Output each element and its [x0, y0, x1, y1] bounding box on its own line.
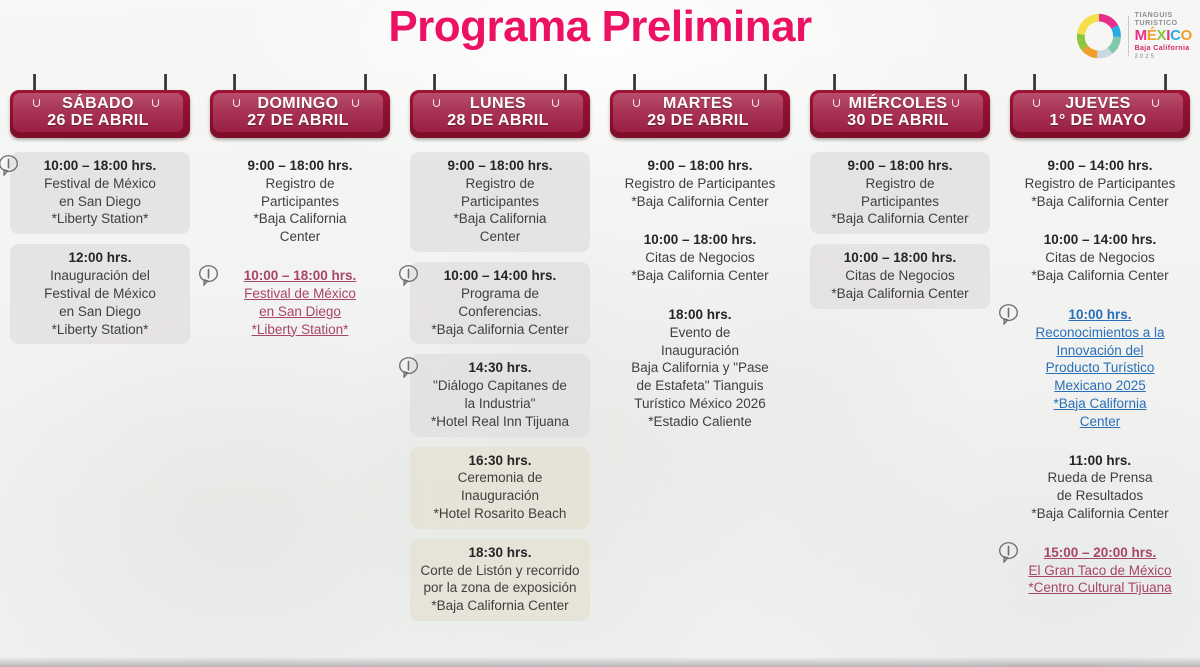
entry-time: 9:00 – 18:00 hrs.	[416, 157, 584, 175]
entry-description-line: *Baja California	[1016, 395, 1184, 413]
schedule-entry: 11:00 hrs.Rueda de Prensade Resultados*B…	[1010, 447, 1190, 529]
day-entries: 9:00 – 18:00 hrs.Registro deParticipante…	[800, 144, 1000, 309]
info-bubble-icon[interactable]	[998, 541, 1019, 564]
entry-description-line: *Baja California	[216, 210, 384, 228]
entry-description-line: Innovación del	[1016, 342, 1184, 360]
entry-description-line: de Estafeta" Tianguis	[616, 377, 784, 395]
entry-description-line: Registro de	[416, 175, 584, 193]
entry-description-line: Inauguración del	[16, 267, 184, 285]
entry-time: 10:00 – 18:00 hrs.	[616, 231, 784, 249]
day-entries: 10:00 – 18:00 hrs.Festival de Méxicoen S…	[0, 144, 200, 344]
day-name: LUNES	[470, 96, 526, 112]
entry-description-line: Citas de Negocios	[1016, 249, 1184, 267]
schedule-entry: 9:00 – 18:00 hrs.Registro deParticipante…	[410, 152, 590, 252]
day-sign[interactable]: MIÉRCOLES30 DE ABRIL	[810, 90, 990, 138]
entry-description-line: en San Diego	[216, 303, 384, 321]
entry-description: Registro de Participantes*Baja Californi…	[1016, 175, 1184, 211]
entry-description-line: Programa de	[416, 285, 584, 303]
entry-description-line: Ceremonia de	[416, 469, 584, 487]
schedule-entry: 16:30 hrs.Ceremonia deInauguración*Hotel…	[410, 447, 590, 529]
day-header: JUEVES1° DE MAYO	[1000, 74, 1200, 144]
entry-time: 12:00 hrs.	[16, 249, 184, 267]
day-name: DOMINGO	[257, 96, 338, 112]
day-entries: 9:00 – 18:00 hrs.Registro de Participant…	[600, 144, 800, 437]
sign-rivet-right	[952, 99, 959, 107]
entry-description-line: *Baja California Center	[1016, 267, 1184, 285]
logo-line-1: TIANGUIS	[1135, 12, 1192, 19]
sign-rivet-right	[752, 99, 759, 107]
schedule-entry: 10:00 – 18:00 hrs.Citas de Negocios*Baja…	[810, 244, 990, 308]
entry-description-line: Inauguración	[616, 342, 784, 360]
entry-time: 16:30 hrs.	[416, 452, 584, 470]
logo-subtitle: Baja California	[1135, 45, 1192, 52]
day-name: SÁBADO	[62, 96, 134, 112]
sign-rivet-left	[1033, 99, 1040, 107]
page-title: Programa Preliminar	[0, 2, 1200, 52]
day-sign[interactable]: MARTES29 DE ABRIL	[610, 90, 790, 138]
entry-description-line: *Centro Cultural Tijuana	[1016, 579, 1184, 597]
entry-description-line: Turístico México 2026	[616, 395, 784, 413]
day-entries: 9:00 – 18:00 hrs.Registro deParticipante…	[200, 144, 400, 344]
entry-time: 9:00 – 18:00 hrs.	[216, 157, 384, 175]
schedule-entry: 10:00 – 14:00 hrs.Citas de Negocios*Baja…	[1010, 226, 1190, 290]
day-sign-inner: MARTES29 DE ABRIL	[613, 93, 783, 132]
logo-text: TIANGUIS TURISTICO MÉXICO Baja Californi…	[1135, 12, 1192, 60]
entry-time: 11:00 hrs.	[1016, 452, 1184, 470]
day-name: MIÉRCOLES	[849, 96, 948, 112]
day-column-martes: MARTES29 DE ABRIL9:00 – 18:00 hrs.Regist…	[600, 74, 800, 667]
day-entries: 9:00 – 18:00 hrs.Registro deParticipante…	[400, 144, 600, 621]
entry-description-line: de Resultados	[1016, 487, 1184, 505]
entry-description-line: *Hotel Rosarito Beach	[416, 505, 584, 523]
sign-rivet-left	[233, 99, 240, 107]
entry-description-line: Registro de	[216, 175, 384, 193]
sign-rivet-left	[33, 99, 40, 107]
day-sign[interactable]: SÁBADO26 DE ABRIL	[10, 90, 190, 138]
schedule-entry: 14:30 hrs."Diálogo Capitanes dela Indust…	[410, 354, 590, 436]
entry-description-line: *Baja California Center	[616, 267, 784, 285]
day-date: 1° DE MAYO	[1050, 113, 1147, 129]
schedule-entry[interactable]: 10:00 – 18:00 hrs.Festival de Méxicoen S…	[210, 262, 390, 344]
entry-description: Corte de Listón y recorridopor la zona d…	[416, 562, 584, 615]
entry-description: Registro deParticipantes*Baja California…	[816, 175, 984, 228]
entry-description: El Gran Taco de México*Centro Cultural T…	[1016, 562, 1184, 598]
entry-description-line: Producto Turístico	[1016, 359, 1184, 377]
schedule-entry: 10:00 – 18:00 hrs.Festival de Méxicoen S…	[10, 152, 190, 234]
entry-time: 9:00 – 18:00 hrs.	[816, 157, 984, 175]
sign-rivet-right	[352, 99, 359, 107]
day-column-sbado: SÁBADO26 DE ABRIL 10:00 – 18:00 hrs.Fest…	[0, 74, 200, 667]
entry-description-line: Festival de México	[216, 285, 384, 303]
entry-description: Rueda de Prensade Resultados*Baja Califo…	[1016, 469, 1184, 522]
entry-description-line: *Baja California Center	[1016, 505, 1184, 523]
logo-year: 2025	[1135, 54, 1192, 60]
schedule-entry[interactable]: 15:00 – 20:00 hrs.El Gran Taco de México…	[1010, 539, 1190, 603]
entry-description: Evento deInauguraciónBaja California y "…	[616, 324, 784, 431]
day-entries: 9:00 – 14:00 hrs.Registro de Participant…	[1000, 144, 1200, 603]
entry-description: Reconocimientos a laInnovación delProduc…	[1016, 324, 1184, 431]
entry-time: 15:00 – 20:00 hrs.	[1016, 544, 1184, 562]
entry-description: Festival de Méxicoen San Diego*Liberty S…	[216, 285, 384, 338]
entry-time: 10:00 hrs.	[1016, 306, 1184, 324]
entry-description-line: Evento de	[616, 324, 784, 342]
day-column-lunes: LUNES28 DE ABRIL9:00 – 18:00 hrs.Registr…	[400, 74, 600, 667]
schedule-entry: 10:00 – 18:00 hrs.Citas de Negocios*Baja…	[610, 226, 790, 290]
entry-description: Citas de Negocios*Baja California Center	[1016, 249, 1184, 285]
entry-description-line: *Liberty Station*	[16, 210, 184, 228]
day-header: LUNES28 DE ABRIL	[400, 74, 600, 144]
entry-description: Citas de Negocios*Baja California Center	[816, 267, 984, 303]
day-sign-inner: MIÉRCOLES30 DE ABRIL	[813, 93, 983, 132]
day-sign[interactable]: LUNES28 DE ABRIL	[410, 90, 590, 138]
sign-rivet-left	[833, 99, 840, 107]
day-name: JUEVES	[1065, 96, 1131, 112]
entry-description-line: *Estadio Caliente	[616, 413, 784, 431]
entry-description: "Diálogo Capitanes dela Industria"*Hotel…	[416, 377, 584, 430]
entry-description: Programa deConferencias.*Baja California…	[416, 285, 584, 338]
info-bubble-icon[interactable]	[398, 356, 419, 379]
entry-description-line: *Liberty Station*	[216, 321, 384, 339]
day-column-mircoles: MIÉRCOLES30 DE ABRIL9:00 – 18:00 hrs.Reg…	[800, 74, 1000, 667]
day-sign-inner: SÁBADO26 DE ABRIL	[13, 93, 183, 132]
schedule-entry: 18:00 hrs.Evento deInauguraciónBaja Cali…	[610, 301, 790, 437]
entry-description: Registro deParticipantes*Baja California…	[216, 175, 384, 246]
info-bubble-icon[interactable]	[198, 264, 219, 287]
entry-description-line: *Baja California Center	[416, 321, 584, 339]
day-sign-inner: JUEVES1° DE MAYO	[1013, 93, 1183, 132]
day-sign[interactable]: DOMINGO27 DE ABRIL	[210, 90, 390, 138]
entry-description-line: "Diálogo Capitanes de	[416, 377, 584, 395]
schedule-entry: 18:30 hrs.Corte de Listón y recorridopor…	[410, 539, 590, 621]
entry-description-line: *Liberty Station*	[16, 321, 184, 339]
day-sign-inner: DOMINGO27 DE ABRIL	[213, 93, 383, 132]
day-date: 27 DE ABRIL	[247, 113, 349, 129]
entry-time: 18:00 hrs.	[616, 306, 784, 324]
entry-description-line: Rueda de Prensa	[1016, 469, 1184, 487]
schedule-entry: 9:00 – 18:00 hrs.Registro deParticipante…	[210, 152, 390, 252]
entry-description-line: Corte de Listón y recorrido	[416, 562, 584, 580]
entry-description-line: Participantes	[816, 193, 984, 211]
program-page: Programa Preliminar TIANGUIS TURISTICO M…	[0, 0, 1200, 667]
entry-description-line: por la zona de exposición	[416, 579, 584, 597]
entry-time: 9:00 – 18:00 hrs.	[616, 157, 784, 175]
entry-description-line: Citas de Negocios	[616, 249, 784, 267]
entry-description-line: Inauguración	[416, 487, 584, 505]
sign-rivet-right	[552, 99, 559, 107]
sign-rivet-right	[1152, 99, 1159, 107]
entry-description-line: Center	[416, 228, 584, 246]
entry-description: Registro de Participantes*Baja Californi…	[616, 175, 784, 211]
day-column-jueves: JUEVES1° DE MAYO9:00 – 14:00 hrs.Registr…	[1000, 74, 1200, 667]
entry-description-line: Mexicano 2025	[1016, 377, 1184, 395]
day-name: MARTES	[663, 96, 733, 112]
schedule-entry[interactable]: 10:00 hrs.Reconocimientos a laInnovación…	[1010, 301, 1190, 437]
logo-divider	[1128, 16, 1129, 56]
color-ring-logo-icon	[1076, 13, 1122, 59]
entry-description-line: *Hotel Real Inn Tijuana	[416, 413, 584, 431]
day-column-domingo: DOMINGO27 DE ABRIL9:00 – 18:00 hrs.Regis…	[200, 74, 400, 667]
entry-description-line: la Industria"	[416, 395, 584, 413]
entry-description-line: Center	[1016, 413, 1184, 431]
schedule-entry: 9:00 – 18:00 hrs.Registro de Participant…	[610, 152, 790, 216]
entry-time: 9:00 – 14:00 hrs.	[1016, 157, 1184, 175]
entry-description-line: Reconocimientos a la	[1016, 324, 1184, 342]
schedule-entry: 10:00 – 14:00 hrs.Programa deConferencia…	[410, 262, 590, 344]
entry-time: 10:00 – 14:00 hrs.	[416, 267, 584, 285]
entry-description-line: Festival de México	[16, 175, 184, 193]
entry-time: 18:30 hrs.	[416, 544, 584, 562]
entry-description-line: Registro de Participantes	[616, 175, 784, 193]
entry-description-line: Registro de	[816, 175, 984, 193]
entry-description-line: *Baja California	[416, 210, 584, 228]
entry-description-line: Festival de México	[16, 285, 184, 303]
info-bubble-icon[interactable]	[998, 303, 1019, 326]
entry-description-line: Participantes	[216, 193, 384, 211]
entry-description-line: en San Diego	[16, 303, 184, 321]
entry-description-line: *Baja California Center	[1016, 193, 1184, 211]
day-header: MIÉRCOLES30 DE ABRIL	[800, 74, 1000, 144]
event-logo: TIANGUIS TURISTICO MÉXICO Baja Californi…	[1076, 7, 1192, 65]
day-header: DOMINGO27 DE ABRIL	[200, 74, 400, 144]
entry-description-line: Participantes	[416, 193, 584, 211]
entry-description-line: Center	[216, 228, 384, 246]
day-header: SÁBADO26 DE ABRIL	[0, 74, 200, 144]
day-date: 30 DE ABRIL	[847, 113, 949, 129]
day-header: MARTES29 DE ABRIL	[600, 74, 800, 144]
day-date: 26 DE ABRIL	[47, 113, 149, 129]
entry-description-line: *Baja California Center	[616, 193, 784, 211]
entry-time: 14:30 hrs.	[416, 359, 584, 377]
entry-description: Festival de Méxicoen San Diego*Liberty S…	[16, 175, 184, 228]
sign-rivet-left	[433, 99, 440, 107]
entry-description-line: en San Diego	[16, 193, 184, 211]
info-bubble-icon[interactable]	[0, 154, 19, 177]
sign-rivet-left	[633, 99, 640, 107]
entry-description-line: Registro de Participantes	[1016, 175, 1184, 193]
entry-description-line: *Baja California Center	[816, 285, 984, 303]
entry-description-line: Conferencias.	[416, 303, 584, 321]
logo-brand: MÉXICO	[1135, 28, 1192, 43]
day-sign[interactable]: JUEVES1° DE MAYO	[1010, 90, 1190, 138]
day-date: 28 DE ABRIL	[447, 113, 549, 129]
info-bubble-icon[interactable]	[398, 264, 419, 287]
entry-description-line: Baja California y "Pase	[616, 359, 784, 377]
entry-time: 10:00 – 18:00 hrs.	[216, 267, 384, 285]
entry-description: Citas de Negocios*Baja California Center	[616, 249, 784, 285]
schedule-entry: 9:00 – 14:00 hrs.Registro de Participant…	[1010, 152, 1190, 216]
entry-time: 10:00 – 14:00 hrs.	[1016, 231, 1184, 249]
entry-time: 10:00 – 18:00 hrs.	[16, 157, 184, 175]
entry-description-line: *Baja California Center	[816, 210, 984, 228]
schedule-entry: 9:00 – 18:00 hrs.Registro deParticipante…	[810, 152, 990, 234]
entry-description-line: Citas de Negocios	[816, 267, 984, 285]
entry-description: Ceremonia deInauguración*Hotel Rosarito …	[416, 469, 584, 522]
entry-description: Registro deParticipantes*Baja California…	[416, 175, 584, 246]
entry-description-line: *Baja California Center	[416, 597, 584, 615]
schedule-grid: SÁBADO26 DE ABRIL 10:00 – 18:00 hrs.Fest…	[0, 74, 1200, 667]
day-sign-inner: LUNES28 DE ABRIL	[413, 93, 583, 132]
logo-line-2: TURISTICO	[1135, 20, 1192, 27]
schedule-entry: 12:00 hrs.Inauguración delFestival de Mé…	[10, 244, 190, 344]
entry-time: 10:00 – 18:00 hrs.	[816, 249, 984, 267]
entry-description-line: El Gran Taco de México	[1016, 562, 1184, 580]
day-date: 29 DE ABRIL	[647, 113, 749, 129]
entry-description: Inauguración delFestival de Méxicoen San…	[16, 267, 184, 338]
sign-rivet-right	[152, 99, 159, 107]
